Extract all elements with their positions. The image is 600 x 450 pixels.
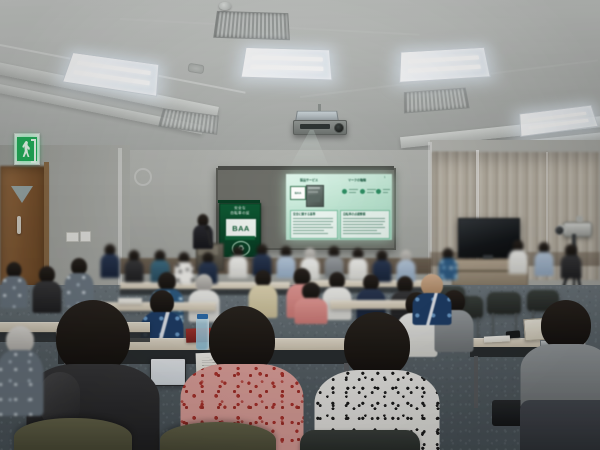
ceiling-light-panel	[399, 47, 491, 83]
attendee	[560, 244, 582, 278]
chair-foreground[interactable]	[300, 430, 420, 450]
attendee	[508, 240, 528, 272]
slide-card-right-title: 自転車の点検整備	[343, 212, 365, 216]
attendee	[228, 246, 248, 276]
projector-vent-icon	[300, 124, 330, 129]
table-leg	[474, 356, 478, 408]
banner-title-line2: 自転車の証	[223, 211, 257, 216]
chair-foreground[interactable]	[14, 418, 132, 450]
slide-badge: BAA	[290, 186, 306, 200]
slide-mark-chip	[342, 189, 347, 194]
ceiling-light-panel	[241, 47, 333, 80]
emergency-exit-sign	[14, 133, 40, 165]
attendee	[124, 250, 144, 280]
chair-foreground[interactable]	[160, 422, 276, 450]
wall-switch-plate	[80, 231, 91, 242]
smoke-detector-icon	[219, 2, 231, 10]
attendee	[64, 258, 94, 304]
slide-heading-right: マークの種類	[348, 178, 366, 182]
camera-lens-icon	[555, 226, 564, 235]
banner-baa-mark: BAA	[225, 218, 257, 238]
slide-heading-left: 製品サービス	[300, 178, 318, 182]
attendee	[294, 282, 328, 322]
ceiling-vent	[213, 11, 290, 40]
screen-roller	[218, 166, 394, 170]
exit-sign-icon	[17, 137, 37, 162]
attendee-trousers	[520, 400, 600, 450]
chair[interactable]	[487, 292, 521, 314]
slide-mark-chip	[360, 189, 365, 194]
microphone-icon	[205, 226, 209, 230]
video-camera	[563, 222, 592, 237]
attendee	[0, 326, 44, 416]
camera-handle	[576, 216, 583, 222]
slide-mark-chip	[376, 189, 381, 194]
banner-top-bar	[218, 200, 260, 203]
slide-corner-label: 1	[384, 176, 385, 179]
attendee	[534, 242, 554, 274]
presentation-slide: 製品サービス マークの種類 1 BAA 安全に関する基準	[286, 174, 392, 240]
attendee	[0, 262, 28, 306]
projector-lens-icon	[334, 123, 344, 133]
banner-title-line1: 安全な	[223, 206, 257, 211]
chair-leg	[492, 313, 494, 337]
seminar-room-photo: 製品サービス マークの種類 1 BAA 安全に関する基準	[0, 0, 600, 450]
wall-outlet-plate	[66, 232, 79, 242]
slide-card-left-title: 安全に関する基準	[293, 212, 315, 216]
banner-mark-subtitle-bar	[225, 236, 255, 240]
wall-clock-icon	[134, 168, 152, 186]
door-handle[interactable]	[17, 216, 21, 234]
attendee	[100, 244, 120, 276]
door-window-icon	[11, 186, 33, 203]
chair-leg	[477, 317, 479, 339]
